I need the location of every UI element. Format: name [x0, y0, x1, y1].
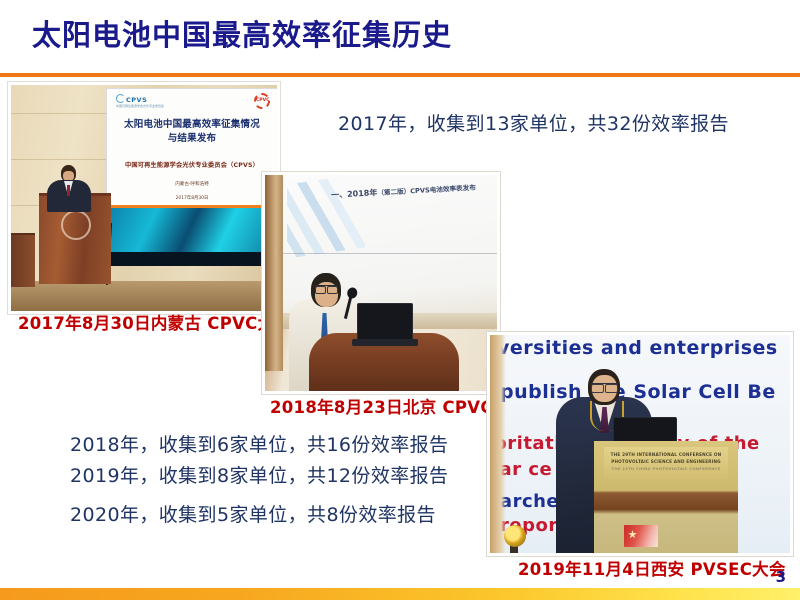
slide-rule	[283, 253, 497, 254]
photo-content: CPVS 中国可再生能源学会光伏专业委员会 CPVC 太阳电池中国最高效率征集情…	[11, 85, 277, 311]
conference-podium-sign: THE 29TH INTERNATIONAL CONFERENCE ON PHO…	[604, 447, 728, 479]
cpvc-logo-icon: CPVC	[254, 93, 270, 111]
stat-line-2018: 2018年，收集到6家单位，共16份效率报告	[70, 430, 448, 457]
stage-light-icon	[504, 525, 526, 547]
stat-line-2020: 2020年，收集到5家单位，共8份效率报告	[70, 500, 436, 527]
projected-text-line-1: niversities and enterprises	[490, 337, 778, 359]
room-pillar	[490, 335, 506, 553]
slide-footer-graphic	[106, 208, 277, 266]
caption-photo-2017: 2017年8月30日内蒙古 CPVC大会	[18, 310, 291, 334]
page-title: 太阳电池中国最高效率征集历史	[32, 16, 452, 54]
slide-header: 太阳电池中国最高效率征集历史	[0, 0, 800, 76]
laptop	[357, 303, 413, 341]
caption-photo-2019: 2019年11月4日西安 PVSEC大会	[518, 556, 786, 580]
cpvs-logo-icon: CPVS 中国可再生能源学会光伏专业委员会	[116, 94, 164, 108]
photo-content: 一、2018年（第二版）CPVS电池效率表发布	[265, 175, 497, 391]
side-furniture	[11, 233, 35, 287]
page-number: 3	[776, 568, 786, 586]
projected-slide-place: 内蒙古·呼和浩特	[106, 181, 277, 187]
photo-2017-inner-mongolia[interactable]: CPVS 中国可再生能源学会光伏专业委员会 CPVC 太阳电池中国最高效率征集情…	[8, 82, 280, 314]
photo-2019-xian-pvsec[interactable]: niversities and enterprises publish the …	[487, 332, 793, 556]
title-divider	[0, 73, 800, 77]
projected-slide-title: 太阳电池中国最高效率征集情况 与结果发布	[112, 118, 272, 146]
stat-line-2017: 2017年，收集到13家单位，共32份效率报告	[338, 109, 729, 136]
projected-slide-date: 2017年8月30日	[106, 195, 277, 201]
conference-emblem-icon	[624, 525, 658, 547]
photo-content: niversities and enterprises publish the …	[490, 335, 790, 553]
footer-accent-bar	[0, 588, 800, 600]
photo-2018-beijing[interactable]: 一、2018年（第二版）CPVS电池效率表发布	[262, 172, 500, 394]
speaker-tie	[67, 185, 70, 196]
speaker-glasses-icon	[315, 285, 338, 292]
room-pillar	[265, 175, 283, 371]
logo-ring-icon	[116, 94, 125, 103]
speaker-glasses-icon	[591, 383, 618, 391]
logo-ring-icon: CPVC	[254, 93, 270, 109]
projection-screen: CPVS 中国可再生能源学会光伏专业委员会 CPVC 太阳电池中国最高效率征集情…	[106, 88, 277, 266]
stat-line-2019: 2019年，收集到8家单位，共12份效率报告	[70, 461, 448, 488]
presentation-slide: 太阳电池中国最高效率征集历史 CPVS 中国可再生能源学会光伏专业委员会 CPV…	[0, 0, 800, 600]
projected-slide-organization: 中国可再生能源学会光伏专业委员会（CPVS）	[110, 160, 274, 169]
hall-floor	[11, 281, 277, 311]
